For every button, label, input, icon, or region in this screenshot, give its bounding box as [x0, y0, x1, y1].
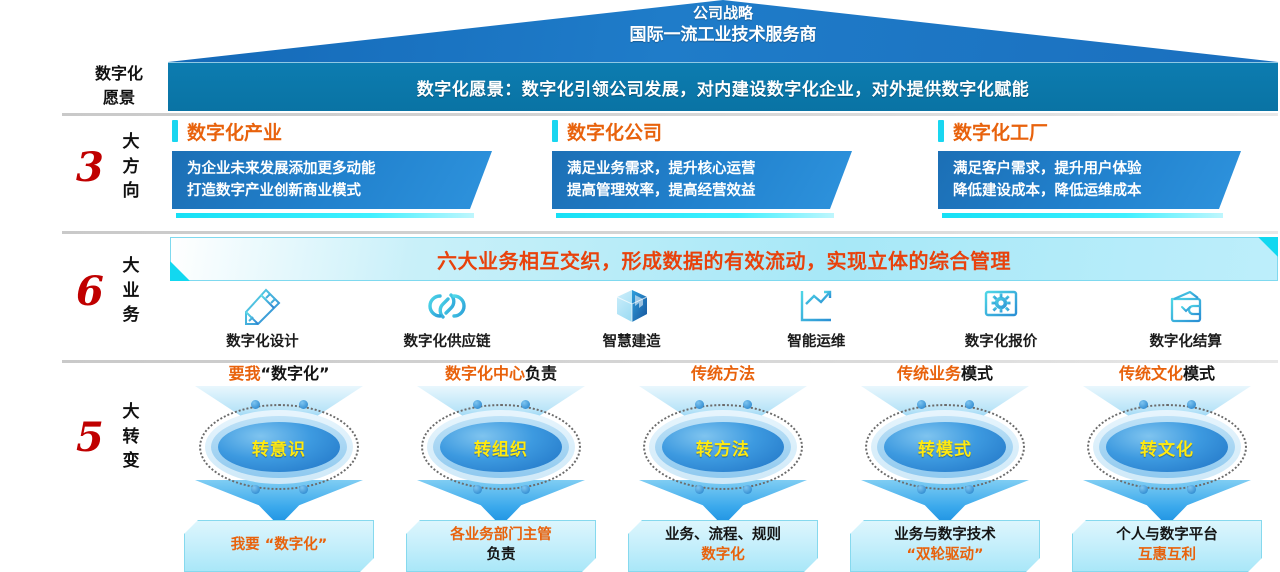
business-label-4: 智能运维 — [787, 330, 845, 351]
business-banner-text: 六大业务相互交织，形成数据的有效流动，实现立体的综合管理 — [170, 237, 1278, 281]
node-dot-icon — [299, 400, 308, 409]
transformation-2-result: 各业务部门主管 负责 — [406, 520, 596, 572]
transformation-item-2[interactable]: 数字化中心负责 转组织 各业务部门主管 负责 — [390, 364, 612, 560]
business-label-3: 智慧建造 — [603, 330, 661, 351]
accent-bar-icon — [552, 120, 558, 142]
node-dot-icon — [251, 400, 260, 409]
transformation-5-core-label: 转文化 — [1140, 435, 1194, 460]
node-dot-icon — [695, 400, 704, 409]
row-label-businesses-c2: 业 — [118, 279, 144, 304]
transformation-4-top-plain: 模式 — [961, 364, 993, 383]
business-label-6: 数字化结算 — [1149, 330, 1222, 351]
divider-businesses-transformations — [62, 360, 1278, 363]
direction-2-underline — [556, 213, 834, 218]
transformation-4-core: 转模式 — [884, 422, 1006, 472]
direction-1-underline — [176, 213, 474, 218]
transformation-1-top: 要我“数字化” — [168, 364, 390, 383]
row-label-directions-c3: 向 — [118, 179, 144, 204]
row-label-transformations-c2: 转 — [118, 425, 144, 450]
row-label-vision-line2: 愿景 — [74, 87, 164, 111]
node-dot-icon — [965, 485, 974, 494]
node-dot-icon — [917, 400, 926, 409]
direction-1-header: 数字化产业 — [172, 118, 282, 144]
business-item-3[interactable]: 智慧建造 — [539, 285, 724, 353]
row-label-vision: 数字化 愿景 — [74, 63, 164, 111]
row-label-directions-text: 大 方 向 — [118, 130, 144, 204]
transformation-1-core: 转意识 — [218, 422, 340, 472]
pencil-ruler-icon — [241, 285, 283, 327]
transformation-2-top: 数字化中心负责 — [390, 364, 612, 383]
transformation-4-result-line1: 业务与数字技术 — [894, 526, 996, 546]
cube-building-icon — [611, 285, 653, 327]
strategy-line-2: 国际一流工业技术服务商 — [168, 25, 1278, 46]
business-item-4[interactable]: 智能运维 — [724, 285, 909, 353]
transformation-item-1[interactable]: 要我“数字化” 转意识 我要 “数字化” — [168, 364, 390, 560]
transformation-2-core-label: 转组织 — [474, 435, 528, 460]
transformation-5-top-orange: 传统文化 — [1119, 364, 1183, 383]
row-label-directions-c1: 大 — [118, 130, 144, 155]
transformation-5-top-plain: 模式 — [1183, 364, 1215, 383]
direction-1-title: 数字化产业 — [187, 118, 282, 145]
chart-trend-icon — [795, 285, 837, 327]
transformation-1-top-orange: 要我 — [228, 364, 260, 383]
transformation-5-ellipse: 转文化 — [1087, 404, 1247, 490]
node-dot-icon — [521, 485, 530, 494]
business-label-5: 数字化报价 — [965, 330, 1038, 351]
transformation-3-result-line2: 数字化 — [701, 546, 745, 566]
transformation-3-core: 转方法 — [662, 422, 784, 472]
transformation-5-result: 个人与数字平台 互惠互利 — [1072, 520, 1262, 572]
divider-directions-businesses — [62, 231, 1278, 234]
row-number-6: 6 — [76, 272, 104, 312]
row-number-3: 3 — [76, 148, 104, 188]
transformation-4-core-label: 转模式 — [918, 435, 972, 460]
transformation-4-top: 传统业务模式 — [834, 364, 1056, 383]
node-dot-icon — [1139, 485, 1148, 494]
accent-bar-icon — [938, 120, 944, 142]
node-dot-icon — [299, 485, 308, 494]
transformation-2-top-plain: 负责 — [525, 364, 557, 383]
transformation-2-core: 转组织 — [440, 422, 562, 472]
business-item-2[interactable]: 数字化供应链 — [355, 285, 540, 353]
transformation-4-result-line2: “双轮驱动” — [906, 546, 983, 566]
node-dot-icon — [473, 400, 482, 409]
direction-2-header: 数字化公司 — [552, 118, 662, 144]
direction-1-line2: 打造数字产业创新商业模式 — [187, 180, 492, 202]
transformation-3-top-orange: 传统方法 — [691, 364, 755, 383]
transformation-item-4[interactable]: 传统业务模式 转模式 业务与数字技术 “双轮驱动” — [834, 364, 1056, 560]
node-dot-icon — [1187, 485, 1196, 494]
transformation-2-ellipse: 转组织 — [421, 404, 581, 490]
divider-vision-directions — [62, 113, 1278, 116]
row-number-5: 5 — [76, 418, 104, 458]
business-item-5[interactable]: 数字化报价 — [909, 285, 1094, 353]
transformation-1-ellipse: 转意识 — [199, 404, 359, 490]
company-strategy-pyramid: 公司战略 国际一流工业技术服务商 — [168, 0, 1278, 62]
transformation-4-top-orange: 传统业务 — [897, 364, 961, 383]
monitor-gear-icon — [980, 285, 1022, 327]
row-label-transformations-c1: 大 — [118, 400, 144, 425]
node-dot-icon — [521, 400, 530, 409]
node-dot-icon — [1139, 400, 1148, 409]
pyramid-text-block: 公司战略 国际一流工业技术服务商 — [168, 4, 1278, 46]
transformation-2-result-line1: 各业务部门主管 — [450, 526, 552, 546]
transformation-1-core-label: 转意识 — [252, 435, 306, 460]
row-label-transformations-text: 大 转 变 — [118, 400, 144, 474]
row-label-directions-c2: 方 — [118, 155, 144, 180]
wallet-yuan-icon — [1165, 285, 1207, 327]
transformation-4-result: 业务与数字技术 “双轮驱动” — [850, 520, 1040, 572]
transformation-3-ellipse: 转方法 — [643, 404, 803, 490]
direction-2-title: 数字化公司 — [567, 118, 662, 145]
transformation-5-result-line2: 互惠互利 — [1138, 546, 1196, 566]
direction-3-title: 数字化工厂 — [953, 118, 1048, 145]
business-label-2: 数字化供应链 — [404, 330, 491, 351]
direction-3-underline — [942, 213, 1223, 218]
node-dot-icon — [743, 485, 752, 494]
node-dot-icon — [251, 485, 260, 494]
node-dot-icon — [917, 485, 926, 494]
node-dot-icon — [695, 485, 704, 494]
transformation-5-top: 传统文化模式 — [1056, 364, 1278, 383]
node-dot-icon — [1187, 400, 1196, 409]
transformation-2-top-orange: 数字化中心 — [445, 364, 525, 383]
transformation-4-ellipse: 转模式 — [865, 404, 1025, 490]
transformation-1-top-plain: “数字化” — [260, 364, 329, 383]
direction-1-box: 为企业未来发展添加更多动能 打造数字产业创新商业模式 — [172, 151, 492, 209]
transformation-3-result-line1: 业务、流程、规则 — [665, 526, 781, 546]
direction-3-line1: 满足客户需求，提升用户体验 — [953, 158, 1241, 180]
transformation-row: 要我“数字化” 转意识 我要 “数字化” — [168, 364, 1278, 560]
direction-1-line1: 为企业未来发展添加更多动能 — [187, 158, 492, 180]
direction-2-line1: 满足业务需求，提升核心运营 — [567, 158, 852, 180]
chain-link-icon — [426, 285, 468, 327]
business-label-1: 数字化设计 — [226, 330, 299, 351]
transformation-2-result-line2: 负责 — [487, 546, 516, 566]
transformation-1-result: 我要 “数字化” — [184, 520, 374, 572]
accent-bar-icon — [172, 120, 178, 142]
direction-3-box: 满足客户需求，提升用户体验 降低建设成本，降低运维成本 — [938, 151, 1241, 209]
direction-3-header: 数字化工厂 — [938, 118, 1048, 144]
digital-vision-bar: 数字化愿景：数字化引领公司发展，对内建设数字化企业，对外提供数字化赋能 — [168, 62, 1278, 111]
transformation-3-result: 业务、流程、规则 数字化 — [628, 520, 818, 572]
transformation-3-core-label: 转方法 — [696, 435, 750, 460]
business-icon-row: 数字化设计 数字化供应链 — [170, 285, 1278, 353]
business-item-1[interactable]: 数字化设计 — [170, 285, 355, 353]
transformation-item-5[interactable]: 传统文化模式 转文化 个人与数字平台 互惠互利 — [1056, 364, 1278, 560]
row-label-businesses-c3: 务 — [118, 303, 144, 328]
row-label-businesses-c1: 大 — [118, 254, 144, 279]
transformation-5-result-line1: 个人与数字平台 — [1116, 526, 1218, 546]
direction-2-box: 满足业务需求，提升核心运营 提高管理效率，提高经营效益 — [552, 151, 852, 209]
transformation-3-top: 传统方法 — [612, 364, 834, 383]
transformation-5-core: 转文化 — [1106, 422, 1228, 472]
strategy-line-1: 公司战略 — [168, 4, 1278, 23]
infographic-root: 公司战略 国际一流工业技术服务商 数字化愿景：数字化引领公司发展，对内建设数字化… — [0, 0, 1280, 562]
direction-2-line2: 提高管理效率，提高经营效益 — [567, 180, 852, 202]
transformation-item-3[interactable]: 传统方法 转方法 业务、流程、规则 数字化 — [612, 364, 834, 560]
digital-vision-text: 数字化愿景：数字化引领公司发展，对内建设数字化企业，对外提供数字化赋能 — [417, 75, 1030, 100]
node-dot-icon — [743, 400, 752, 409]
node-dot-icon — [965, 400, 974, 409]
business-item-6[interactable]: 数字化结算 — [1093, 285, 1278, 353]
node-dot-icon — [473, 485, 482, 494]
direction-3-line2: 降低建设成本，降低运维成本 — [953, 180, 1241, 202]
transformation-1-result-line1: 我要 “数字化” — [231, 536, 328, 556]
row-label-vision-line1: 数字化 — [74, 63, 164, 87]
row-label-transformations-c3: 变 — [118, 449, 144, 474]
row-label-businesses-text: 大 业 务 — [118, 254, 144, 328]
